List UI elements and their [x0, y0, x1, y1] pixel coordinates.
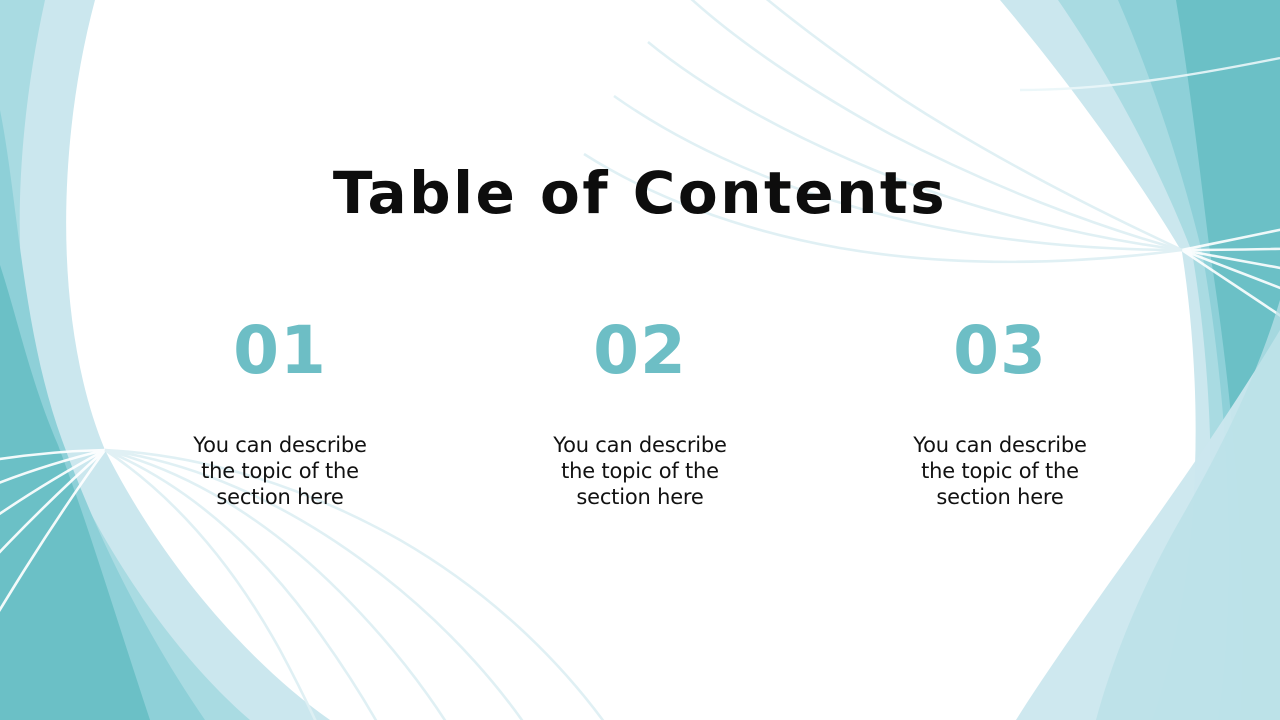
toc-description-01: You can describe the topic of the sectio…	[185, 432, 375, 510]
slide-content: Table of Contents 01 You can describe th…	[0, 0, 1280, 720]
toc-columns: 01 You can describe the topic of the sec…	[130, 318, 1150, 510]
toc-item-02[interactable]: 02 You can describe the topic of the sec…	[490, 318, 790, 510]
slide-canvas: Table of Contents 01 You can describe th…	[0, 0, 1280, 720]
toc-number-01: 01	[233, 318, 327, 384]
toc-description-03: You can describe the topic of the sectio…	[905, 432, 1095, 510]
toc-number-02: 02	[593, 318, 687, 384]
toc-description-02: You can describe the topic of the sectio…	[545, 432, 735, 510]
page-title: Table of Contents	[0, 163, 1280, 224]
toc-item-03[interactable]: 03 You can describe the topic of the sec…	[850, 318, 1150, 510]
toc-number-03: 03	[953, 318, 1047, 384]
toc-item-01[interactable]: 01 You can describe the topic of the sec…	[130, 318, 430, 510]
